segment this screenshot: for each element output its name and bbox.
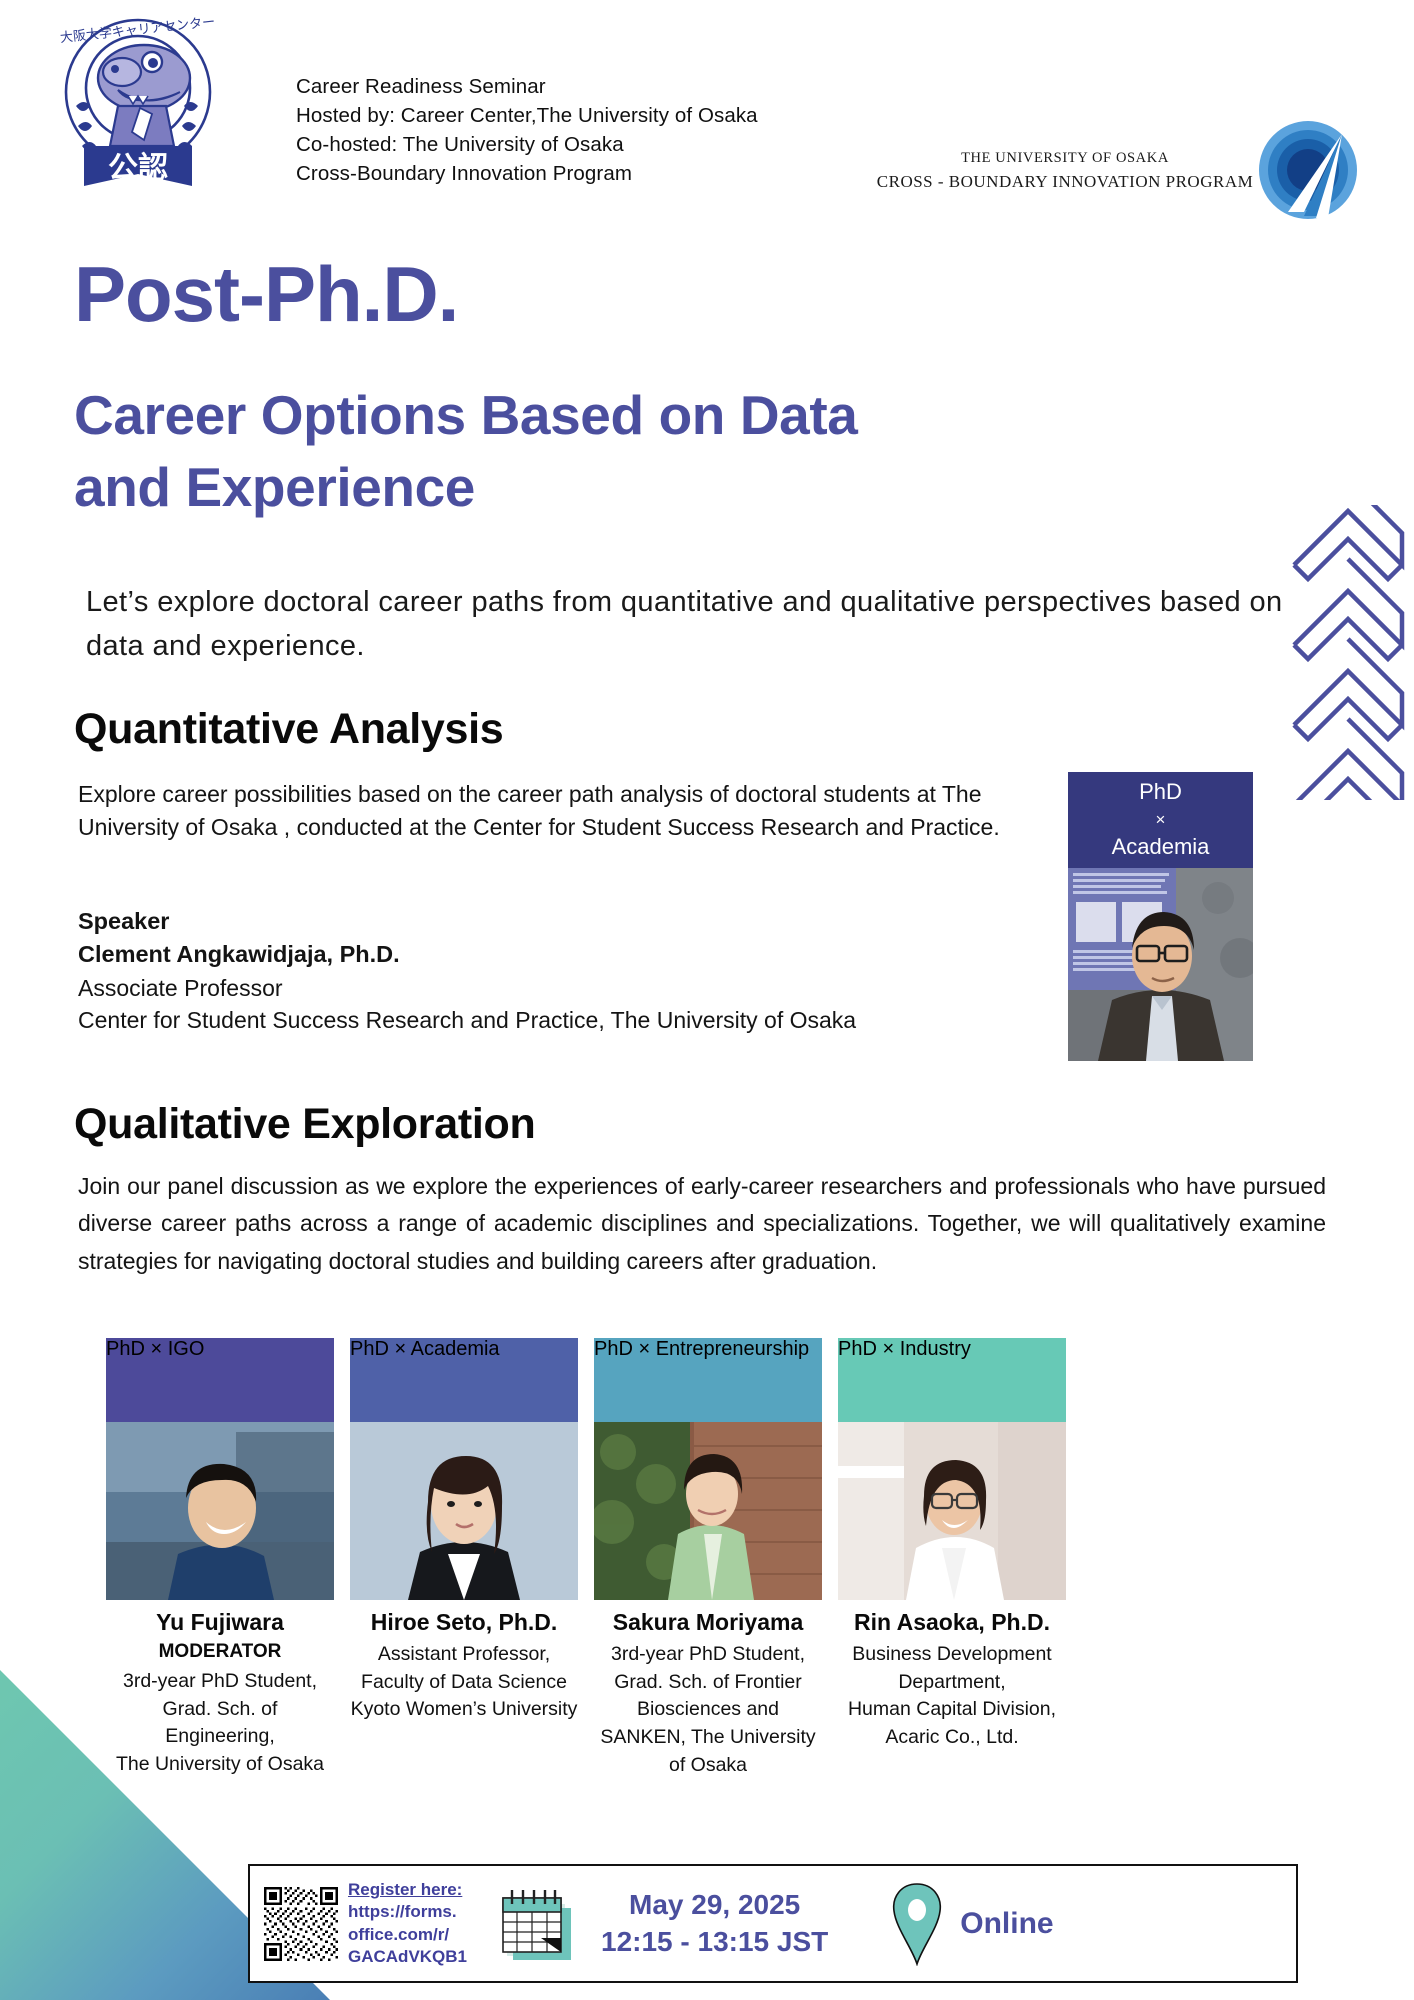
panelist-tag: PhD × IGO: [106, 1338, 334, 1422]
panelist-affiliation: Assistant Professor,Faculty of Data Scie…: [350, 1641, 578, 1724]
page-title-main: Post-Ph.D.: [74, 255, 458, 333]
panelist-card: PhD × Industry: [838, 1338, 1066, 1752]
chevron-arrows-decoration: [1292, 505, 1408, 800]
panelist-name: Hiroe Seto, Ph.D.: [350, 1609, 578, 1636]
speaker-tag-top: PhD: [1139, 778, 1182, 807]
panelist-portrait-photo: [350, 1422, 578, 1600]
panelist-affiliation: 3rd-year PhD Student,Grad. Sch. of Front…: [594, 1641, 822, 1779]
qualitative-paragraph: Join our panel discussion as we explore …: [78, 1168, 1326, 1280]
panelist-portrait-photo: [106, 1422, 334, 1600]
panelist-tag: PhD × Industry: [838, 1338, 1066, 1422]
panelist-tag: PhD × Academia: [350, 1338, 578, 1422]
poster-root: 大阪大学キャリアセンター: [0, 0, 1414, 2000]
panelist-tag-x: ×: [150, 1338, 162, 1360]
panelist-tag-top: PhD: [838, 1338, 877, 1360]
speaker-tag-bottom: Academia: [1112, 833, 1210, 862]
quantitative-paragraph: Explore career possibilities based on th…: [78, 778, 1018, 845]
location-pin-icon: [888, 1882, 946, 1966]
header-line-3: Co-hosted: The University of Osaka: [296, 130, 758, 159]
panelist-card: PhD × IGO Yu Fujiwara MODERATOR 3rd-yea: [106, 1338, 334, 1779]
speaker-card-tag: PhD × Academia: [1068, 772, 1253, 868]
registration-bar: Register here: https://forms. office.com…: [248, 1864, 1298, 1983]
panelist-card: PhD × Entrepreneurship: [594, 1338, 822, 1779]
cbi-program-line: CROSS - BOUNDARY INNOVATION PROGRAM: [845, 172, 1285, 192]
calendar-icon: [495, 1882, 579, 1966]
panelist-tag-bottom: Academia: [411, 1338, 500, 1360]
header-line-1: Career Readiness Seminar: [296, 72, 758, 101]
section-heading-qualitative: Qualitative Exploration: [74, 1100, 535, 1149]
poster-header: 大阪大学キャリアセンター: [0, 0, 1414, 200]
register-url-line2: office.com/r/: [348, 1924, 467, 1946]
panelist-tag-top: PhD: [594, 1338, 633, 1360]
svg-text:公認: 公認: [108, 151, 168, 186]
panelist-card: PhD × Academia Hiroe Seto, Ph.D. Assista…: [350, 1338, 578, 1724]
event-datetime: May 29, 2025 12:15 - 13:15 JST: [601, 1887, 828, 1961]
speaker-name: Clement Angkawidjaja, Ph.D.: [78, 938, 856, 971]
panelist-portrait-photo: [594, 1422, 822, 1600]
cross-boundary-wordmark: THE UNIVERSITY OF OSAKA CROSS - BOUNDARY…: [845, 150, 1285, 192]
panelist-tag-bottom: IGO: [168, 1338, 205, 1360]
panelist-tag-bottom: Industry: [900, 1338, 971, 1360]
speaker-portrait-photo: [1068, 868, 1253, 1061]
speaker-label: Speaker: [78, 905, 856, 938]
panelist-tag-x: ×: [882, 1338, 894, 1360]
page-title-sub-line2: and Experience: [74, 452, 857, 524]
panelist-tag-x: ×: [394, 1338, 406, 1360]
lead-paragraph: Let’s explore doctoral career paths from…: [86, 580, 1286, 668]
speaker-tag-x: ×: [1156, 809, 1166, 831]
panelist-affiliation: 3rd-year PhD Student,Grad. Sch. of Engin…: [106, 1668, 334, 1779]
panelist-tag-x: ×: [638, 1338, 650, 1360]
panelist-affiliation: Business DevelopmentDepartment,Human Cap…: [838, 1641, 1066, 1752]
panelist-name: Yu Fujiwara: [106, 1609, 334, 1636]
panelist-tag-top: PhD: [106, 1338, 145, 1360]
section-heading-quantitative: Quantitative Analysis: [74, 705, 503, 754]
cross-boundary-logo-icon: [1258, 120, 1358, 220]
register-here-label: Register here:: [348, 1879, 467, 1901]
speaker-title: Associate Professor: [78, 972, 856, 1005]
panelist-portrait-photo: [838, 1422, 1066, 1600]
speaker-affiliation: Center for Student Success Research and …: [78, 1004, 856, 1037]
event-location: Online: [960, 1907, 1053, 1941]
page-title-sub-line1: Career Options Based on Data: [74, 380, 857, 452]
panelist-role: MODERATOR: [106, 1641, 334, 1663]
header-line-4: Cross-Boundary Innovation Program: [296, 159, 758, 188]
cbi-university-line: THE UNIVERSITY OF OSAKA: [845, 150, 1285, 167]
panelist-name: Rin Asaoka, Ph.D.: [838, 1609, 1066, 1636]
qr-code[interactable]: [264, 1887, 338, 1961]
panelist-tag-bottom: Entrepreneurship: [656, 1338, 809, 1360]
hosting-info: Career Readiness Seminar Hosted by: Care…: [296, 72, 758, 188]
register-url-line1: https://forms.: [348, 1901, 467, 1923]
panelist-name: Sakura Moriyama: [594, 1609, 822, 1636]
register-url-line3: GACAdVKQB1: [348, 1946, 467, 1968]
career-center-stamp-logo: 大阪大学キャリアセンター: [48, 6, 228, 196]
header-line-2: Hosted by: Career Center,The University …: [296, 101, 758, 130]
registration-link[interactable]: Register here: https://forms. office.com…: [348, 1879, 467, 1967]
speaker-photo-card: PhD × Academia: [1068, 772, 1253, 1061]
event-date: May 29, 2025: [601, 1887, 828, 1924]
panelist-tag: PhD × Entrepreneurship: [594, 1338, 822, 1422]
page-title-sub: Career Options Based on Data and Experie…: [74, 380, 857, 523]
event-time: 12:15 - 13:15 JST: [601, 1924, 828, 1961]
speaker-block: Speaker Clement Angkawidjaja, Ph.D. Asso…: [78, 905, 856, 1037]
panelist-tag-top: PhD: [350, 1338, 389, 1360]
